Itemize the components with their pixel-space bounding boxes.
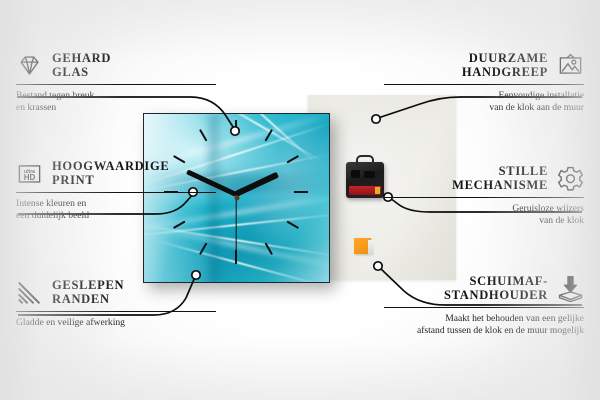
picture-frame-icon <box>557 52 584 79</box>
diamond-icon <box>16 52 43 79</box>
feature-gehard-glas[interactable]: GEHARD GLAS Bestand tegen breuk en krass… <box>16 52 216 113</box>
feature-title-line2: MECHANISME <box>452 179 548 193</box>
feature-hoogwaardige-print[interactable]: ultra HD HOOGWAARDIGE PRINT Intense kleu… <box>16 160 216 221</box>
feature-title: HOOGWAARDIGE <box>52 160 169 174</box>
feature-title-line2: GLAS <box>52 66 111 80</box>
feature-title: SCHUIMAF- <box>444 275 548 289</box>
feature-schuimafstandhouder[interactable]: SCHUIMAF- STANDHOUDER Maakt het behouden… <box>384 275 584 336</box>
feature-title-line2: HANDGREEP <box>462 66 548 80</box>
feature-title: GEHARD <box>52 52 111 66</box>
feature-geslepen-randen[interactable]: GESLEPEN RANDEN Gladde en veilige afwerk… <box>16 279 216 329</box>
clock-tick <box>287 221 299 229</box>
feature-title: STILLE <box>452 165 548 179</box>
foam-spacer-pad <box>354 238 371 254</box>
feature-description: Bestand tegen breuk <box>16 90 216 101</box>
feature-description-line2: een duidelijk beeld <box>16 210 216 221</box>
feature-description: Intense kleuren en <box>16 198 216 209</box>
mechanism-detail <box>351 170 360 178</box>
battery <box>349 186 381 195</box>
clock-tick <box>294 191 308 193</box>
feature-description: Geruisloze wijzers <box>384 203 584 214</box>
hanger-loop-icon <box>356 155 374 166</box>
divider <box>16 84 216 85</box>
feature-description-line2: van de klok aan de muur <box>384 102 584 113</box>
feature-title: DUURZAME <box>462 52 548 66</box>
divider <box>384 307 584 308</box>
foam-spacer-icon <box>557 275 584 302</box>
ultra-hd-bottom-text: HD <box>24 173 36 182</box>
divider <box>16 311 216 312</box>
feature-description: Gladde en veilige afwerking <box>16 317 216 328</box>
feature-description-line2: en krassen <box>16 102 216 113</box>
feature-title-line2: STANDHOUDER <box>444 289 548 303</box>
feature-description-line2: afstand tussen de klok en de muur mogeli… <box>384 325 584 336</box>
feature-description: Maakt het behouden van een gelijke <box>384 313 584 324</box>
feature-duurzame-handgreep[interactable]: DUURZAME HANDGREEP Eenvoudige installati… <box>384 52 584 113</box>
divider <box>384 84 584 85</box>
mechanism-detail <box>364 171 375 178</box>
clock-second-hand <box>235 194 236 258</box>
gear-icon <box>557 165 584 192</box>
feature-stille-mechanisme[interactable]: STILLE MECHANISME Geruisloze wijzers van… <box>384 165 584 226</box>
feature-title: GESLEPEN <box>52 279 124 293</box>
clock-mechanism <box>346 162 384 198</box>
divider <box>16 192 216 193</box>
bevelled-edge-icon <box>16 279 43 306</box>
divider <box>384 197 584 198</box>
feature-title-line2: PRINT <box>52 174 169 188</box>
infographic-canvas: GEHARD GLAS Bestand tegen breuk en krass… <box>0 0 600 400</box>
ultra-hd-icon: ultra HD <box>16 160 43 187</box>
clock-hands-hub <box>234 196 239 201</box>
feature-description: Eenvoudige installatie <box>384 90 584 101</box>
clock-tick <box>235 120 237 134</box>
feature-description-line2: van de klok <box>384 215 584 226</box>
feature-title-line2: RANDEN <box>52 293 124 307</box>
